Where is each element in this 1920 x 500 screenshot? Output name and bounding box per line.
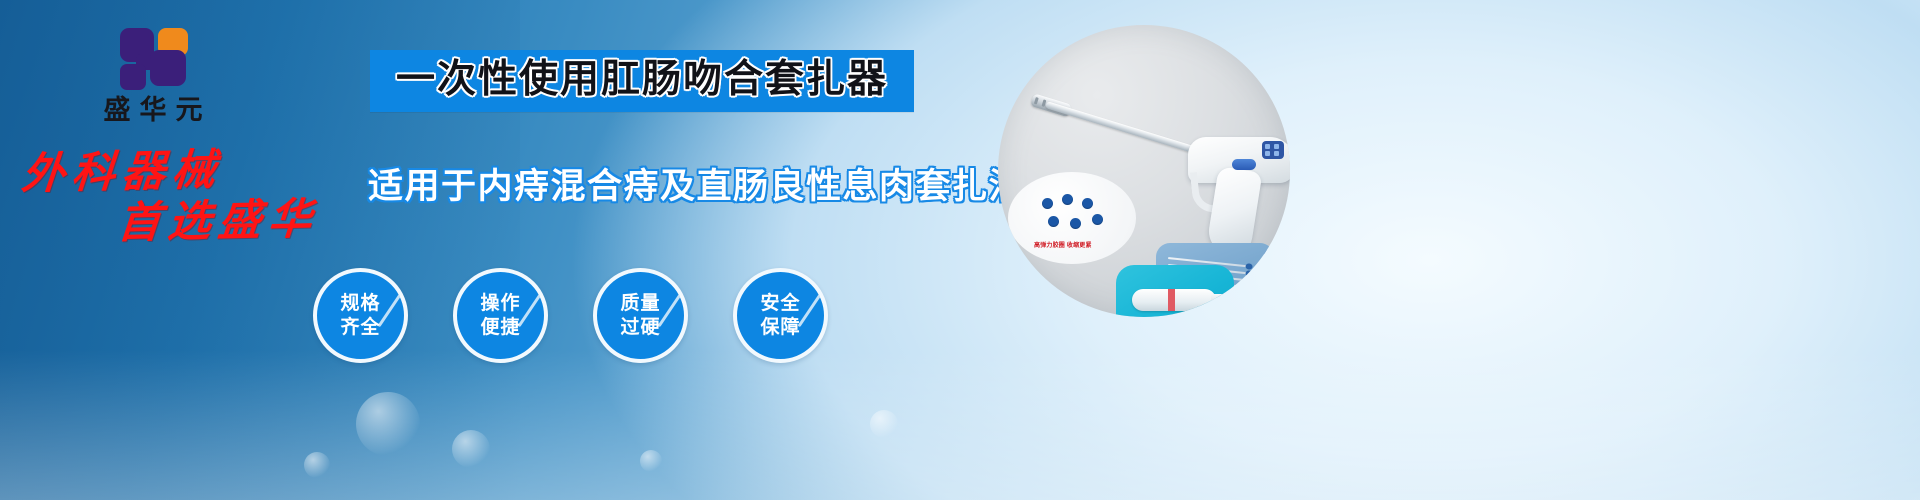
calligraphy-line-2: 首选盛华 xyxy=(116,197,354,246)
decorative-bubble xyxy=(452,430,490,468)
brand-name: 盛华元 xyxy=(58,96,248,124)
calligraphy-slogan: 外科器械 首选盛华 xyxy=(22,150,352,244)
bottom-light-overlay xyxy=(0,350,1920,500)
rubber-rings-card: 高弹力胶圈 收缩更紧 xyxy=(1008,172,1136,264)
badge-line-1: 质量 xyxy=(620,292,660,315)
headline-box: 一次性使用肛肠吻合套扎器 xyxy=(370,50,914,112)
slash-decoration-icon xyxy=(798,291,824,327)
promo-banner: 盛华元 外科器械 首选盛华 一次性使用肛肠吻合套扎器 适用于内痔混合痔及直肠良性… xyxy=(0,0,1920,500)
badge-line-1: 操作 xyxy=(480,292,520,315)
device-tip xyxy=(1211,294,1225,306)
badge-safety[interactable]: 安全 保障 xyxy=(733,268,828,363)
gun-blue-button xyxy=(1232,159,1256,170)
decorative-bubble xyxy=(870,410,898,438)
slash-decoration-icon xyxy=(658,291,684,327)
decorative-bubble xyxy=(640,450,662,472)
shenghuayuan-logo-icon xyxy=(120,28,186,90)
feature-badges: 规格 齐全 操作 便捷 质量 过硬 安全 保障 xyxy=(313,268,828,363)
page-title: 一次性使用肛肠吻合套扎器 xyxy=(396,58,888,102)
decorative-bubble xyxy=(304,452,330,478)
badge-specs[interactable]: 规格 齐全 xyxy=(313,268,408,363)
badge-line-2: 便捷 xyxy=(480,316,520,339)
badge-operation[interactable]: 操作 便捷 xyxy=(453,268,548,363)
slash-decoration-icon xyxy=(378,291,404,327)
badge-line-2: 齐全 xyxy=(340,316,380,339)
calligraphy-line-1: 外科器械 xyxy=(20,147,354,198)
badge-line-1: 规格 xyxy=(340,292,380,315)
rubber-rings-icon xyxy=(1040,194,1104,238)
slash-decoration-icon xyxy=(518,291,544,327)
product-photo: 高弹力胶圈 收缩更紧 防滑力加强 无损伤套 xyxy=(998,25,1290,317)
device-red-band xyxy=(1168,289,1175,311)
decorative-bubble xyxy=(356,392,420,456)
gun-button-panel xyxy=(1262,141,1284,159)
badge-line-2: 保障 xyxy=(760,316,800,339)
subtitle: 适用于内痔混合痔及直肠良性息肉套扎治疗 xyxy=(368,158,1062,209)
badge-line-1: 安全 xyxy=(760,292,800,315)
brand-logo-block: 盛华元 xyxy=(58,28,248,124)
disposable-device-card xyxy=(1116,265,1234,317)
badge-line-2: 过硬 xyxy=(620,316,660,339)
rings-caption: 高弹力胶圈 收缩更紧 xyxy=(1034,240,1092,249)
badge-quality[interactable]: 质量 过硬 xyxy=(593,268,688,363)
